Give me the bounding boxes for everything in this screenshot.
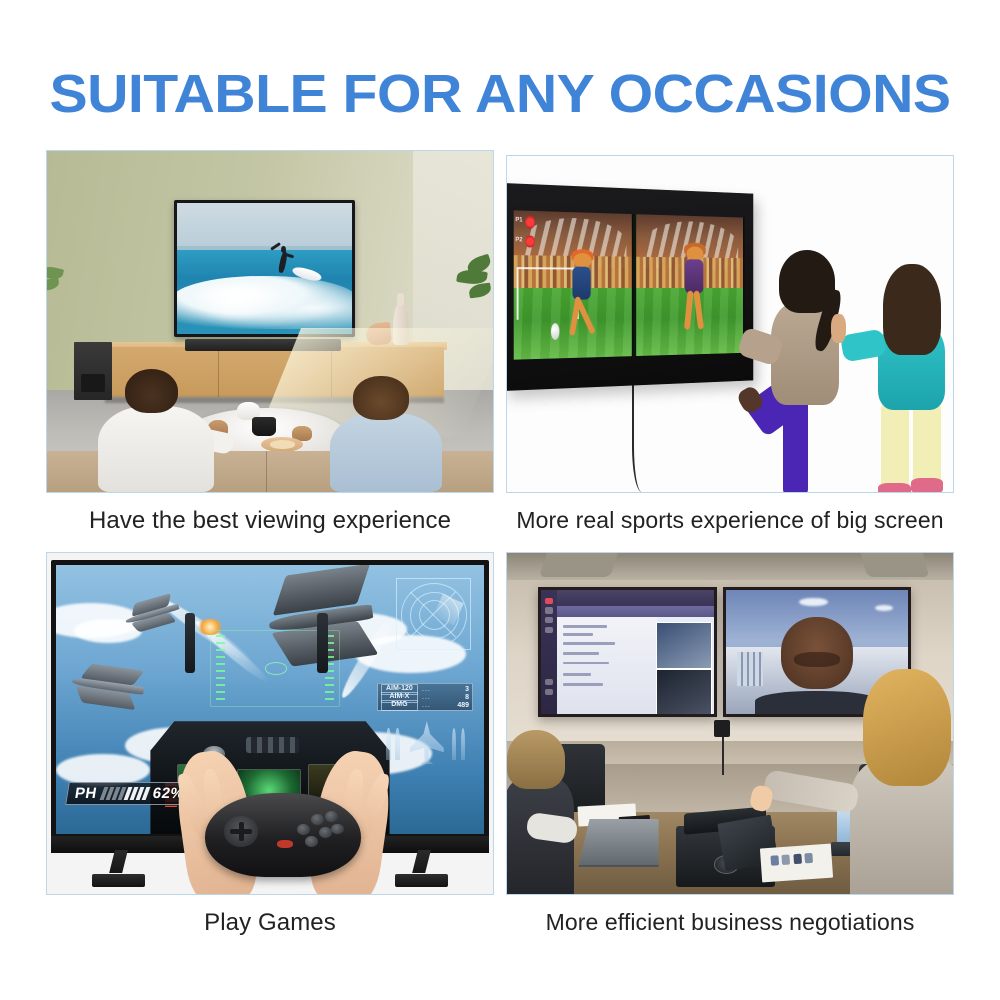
tv-cable <box>632 378 656 492</box>
plant-right-icon <box>451 257 491 305</box>
wall-mounted-television: P1 P2 <box>506 183 753 391</box>
collaboration-app-ui <box>541 590 713 714</box>
app-content <box>557 617 657 713</box>
action-buttons[interactable] <box>296 811 346 850</box>
panel-business-photo <box>506 552 954 895</box>
split-screen-left: P1 P2 <box>514 210 634 359</box>
panel-living-room[interactable]: Have the best viewing experience <box>46 150 494 535</box>
child-right <box>868 264 954 492</box>
display-left <box>538 587 716 717</box>
start-button[interactable] <box>277 840 293 848</box>
game-score-hud: P1 P2 <box>515 215 535 254</box>
panel-play-games[interactable]: AIM-120 ... 3 AIM-X ... 8 <box>46 552 494 937</box>
printed-handout <box>760 844 834 883</box>
tv-screen-soccer: P1 P2 <box>514 210 744 359</box>
video-thumbnail-1 <box>656 622 711 668</box>
ammo-dots-1: ... <box>422 694 431 701</box>
tv-stand-left <box>92 850 146 888</box>
coffee-pot <box>252 417 276 436</box>
panel-sports-gaming[interactable]: P1 P2 <box>506 155 954 534</box>
app-sidebar <box>541 590 557 714</box>
ceiling-vent-right <box>860 553 929 577</box>
health-label: PH <box>74 785 99 802</box>
caption-sports-gaming: More real sports experience of big scree… <box>506 507 954 534</box>
dpad-icon[interactable] <box>224 816 258 846</box>
conference-room-scene <box>507 553 953 894</box>
soccer-ball <box>551 323 560 339</box>
tv-stand-right <box>395 850 449 888</box>
ammo-panel: AIM-120 ... 3 AIM-X ... 8 <box>377 683 473 711</box>
hud-pillar-left <box>185 613 196 672</box>
page-title: SUITABLE FOR ANY OCCASIONS <box>0 63 1000 125</box>
health-bars <box>101 787 149 800</box>
hud-pillar-right <box>317 613 328 672</box>
panel-play-games-photo: AIM-120 ... 3 AIM-X ... 8 <box>46 552 494 895</box>
conference-camera-icon <box>714 720 730 737</box>
panel-grid: Have the best viewing experience <box>46 150 954 950</box>
ammo-value-2: 489 <box>457 702 469 709</box>
health-gauge: PH 62% <box>65 782 194 805</box>
panel-sports-gaming-photo: P1 P2 <box>506 155 954 493</box>
flight-sim-scene: AIM-120 ... 3 AIM-X ... 8 <box>47 553 493 894</box>
ammo-value-0: 3 <box>465 686 469 693</box>
split-screen-right <box>636 214 744 356</box>
game-player-1 <box>563 253 599 341</box>
ammo-label-2: DMG <box>381 700 418 711</box>
laptop-left <box>578 819 658 867</box>
ammo-dots-2: ... <box>422 702 431 709</box>
tv-screen <box>177 203 352 333</box>
living-room-scene <box>47 151 493 492</box>
ammo-dots-0: ... <box>422 686 431 693</box>
app-titlebar <box>557 590 714 606</box>
marketing-page: SUITABLE FOR ANY OCCASIONS <box>0 0 1000 1000</box>
sports-gaming-scene: P1 P2 <box>507 156 953 492</box>
caption-business: More efficient business negotiations <box>506 909 954 936</box>
attendee-left <box>506 730 574 894</box>
surfer-figure <box>275 243 292 282</box>
child-left <box>757 250 860 492</box>
caption-living-room: Have the best viewing experience <box>46 507 494 535</box>
ammo-value-1: 8 <box>465 694 469 701</box>
ceiling-vent-left <box>539 553 618 577</box>
panel-business[interactable]: More efficient business negotiations <box>506 552 954 936</box>
app-toolbar <box>557 606 714 617</box>
television <box>174 200 355 336</box>
radar-icon <box>396 578 471 650</box>
video-thumbnail-2 <box>656 669 711 714</box>
person-man <box>96 369 216 492</box>
player-hands <box>181 751 386 895</box>
game-player-2 <box>676 246 711 335</box>
aircraft-loadout-icon <box>381 716 471 770</box>
person-woman <box>328 376 444 492</box>
attendee-right <box>828 669 954 894</box>
game-controller[interactable] <box>205 793 361 877</box>
plant-left-icon <box>47 267 69 301</box>
panel-living-room-photo <box>46 150 494 493</box>
caption-play-games: Play Games <box>46 909 494 937</box>
